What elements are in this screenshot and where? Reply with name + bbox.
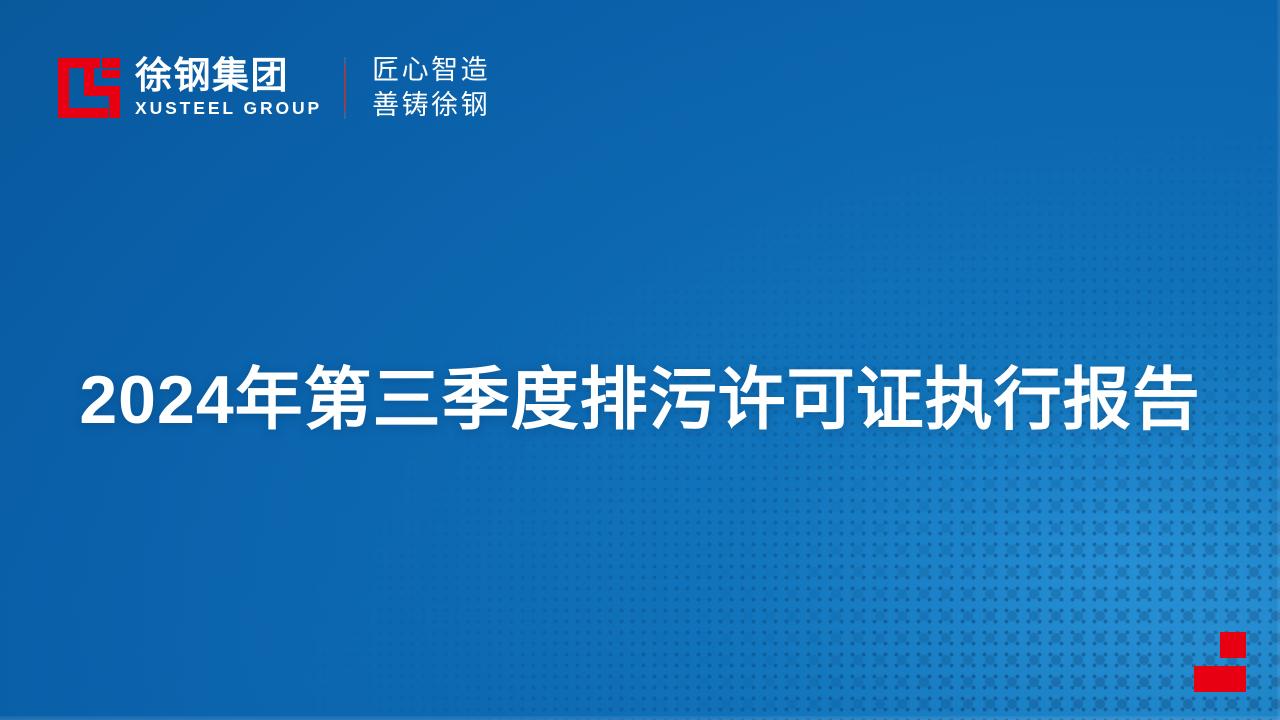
slide-title: 2024年第三季度排污许可证执行报告 — [79, 364, 1200, 437]
title-block: 2024年第三季度排污许可证执行报告 — [0, 318, 1280, 483]
xusteel-logo-icon — [58, 52, 120, 124]
logo-wordmark: 徐钢集团 XUSTEEL GROUP — [135, 57, 322, 120]
corner-square-right — [1220, 666, 1246, 692]
company-slogan: 匠心智造 善铸徐钢 — [372, 53, 490, 122]
slogan-line-2: 善铸徐钢 — [372, 88, 490, 123]
company-name-en: XUSTEEL GROUP — [135, 98, 322, 119]
corner-squares-decoration — [1194, 632, 1262, 696]
company-name-cn: 徐钢集团 — [135, 57, 322, 95]
company-logo-lockup: 徐钢集团 XUSTEEL GROUP 匠心智造 善铸徐钢 — [58, 52, 490, 124]
corner-square-left — [1194, 666, 1220, 692]
corner-square-top — [1220, 632, 1246, 658]
logo-divider — [344, 57, 346, 119]
slogan-line-1: 匠心智造 — [372, 53, 490, 88]
cover-slide: 徐钢集团 XUSTEEL GROUP 匠心智造 善铸徐钢 2024年第三季度排污… — [0, 0, 1280, 720]
